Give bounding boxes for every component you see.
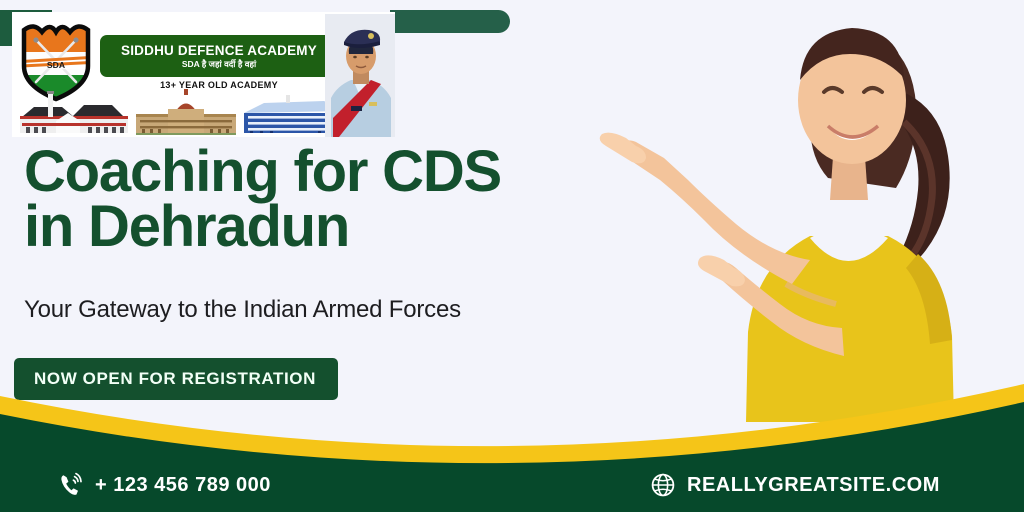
decorative-pill-top bbox=[390, 10, 510, 33]
academy-name-plate: SIDDHU DEFENCE ACADEMY SDA है जहां वर्दी… bbox=[100, 35, 338, 77]
footer-contact-bar: + 123 456 789 000 REALLYGREATSITE.COM bbox=[0, 446, 1024, 512]
academy-buildings-photo bbox=[18, 87, 348, 135]
page-title: Coaching for CDS in Dehradun bbox=[24, 144, 644, 254]
footer-website[interactable]: REALLYGREATSITE.COM bbox=[650, 472, 940, 498]
pointing-woman-photo bbox=[596, 0, 1024, 422]
headline-line-2: in Dehradun bbox=[24, 199, 644, 254]
svg-text:SDA: SDA bbox=[47, 60, 65, 70]
academy-logo-banner: SDA SIDDHU DEFENCE ACADEMY SDA है जहां व… bbox=[12, 12, 395, 137]
footer-phone[interactable]: + 123 456 789 000 bbox=[58, 472, 271, 498]
globe-icon bbox=[650, 472, 676, 498]
promo-banner: SDA SIDDHU DEFENCE ACADEMY SDA है जहां व… bbox=[0, 0, 1024, 512]
academy-name: SIDDHU DEFENCE ACADEMY bbox=[121, 44, 317, 58]
website-url: REALLYGREATSITE.COM bbox=[687, 474, 940, 497]
academy-tagline-hindi: SDA है जहां वर्दी है वहां bbox=[182, 60, 256, 69]
phone-number: + 123 456 789 000 bbox=[95, 474, 271, 497]
cadet-officer-photo bbox=[325, 14, 395, 137]
page-subtitle: Your Gateway to the Indian Armed Forces bbox=[24, 296, 461, 324]
phone-ringing-icon bbox=[58, 472, 84, 498]
